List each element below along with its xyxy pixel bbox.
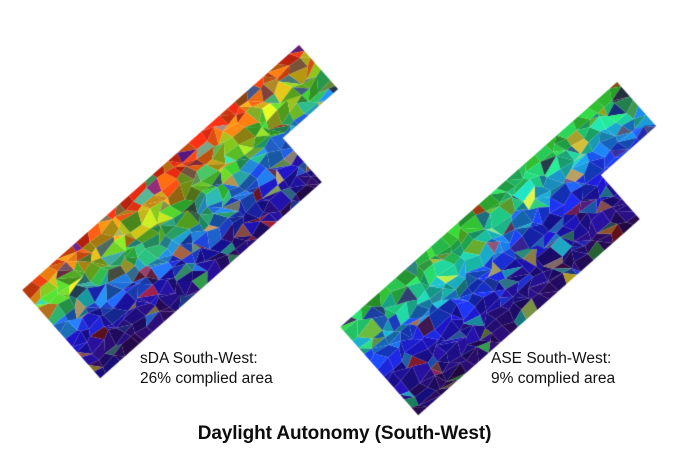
caption-sda: sDA South-West: 26% complied area xyxy=(140,349,273,389)
caption-ase: ASE South-West: 9% complied area xyxy=(491,349,615,389)
caption-sda-line2: 26% complied area xyxy=(140,369,273,389)
figure-title: Daylight Autonomy (South-West) xyxy=(0,423,689,445)
caption-ase-line2: 9% complied area xyxy=(491,369,615,389)
daylight-heatmap-canvas xyxy=(0,0,689,469)
caption-sda-line1: sDA South-West: xyxy=(140,349,273,369)
daylight-autonomy-figure: sDA South-West: 26% complied area ASE So… xyxy=(0,0,689,469)
caption-ase-line1: ASE South-West: xyxy=(491,349,615,369)
